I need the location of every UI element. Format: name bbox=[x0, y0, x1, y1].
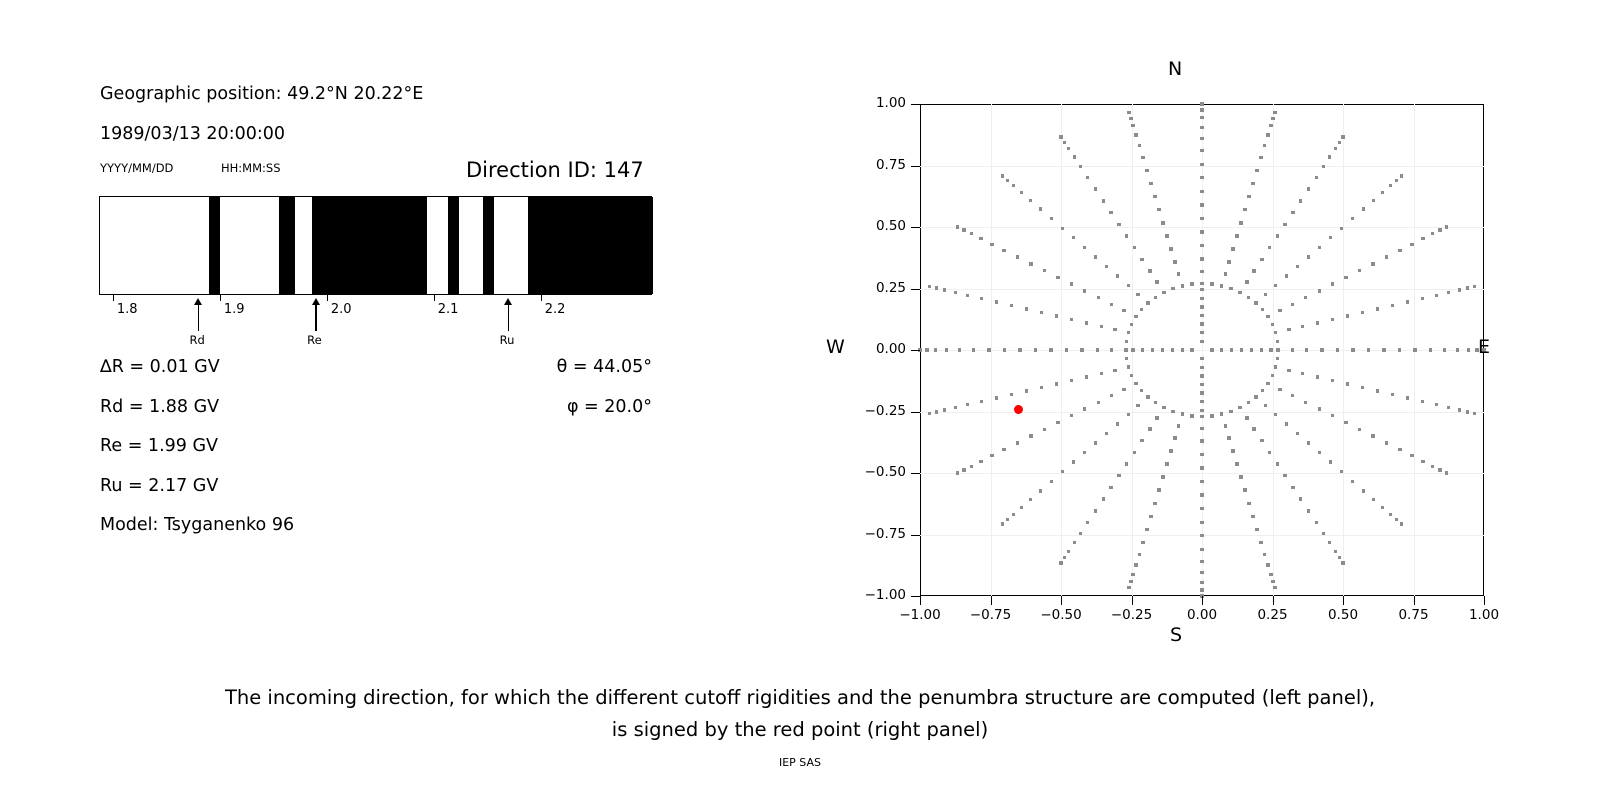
direction-dot bbox=[1224, 272, 1227, 275]
direction-dot bbox=[1238, 406, 1241, 409]
direction-dot bbox=[1073, 541, 1076, 544]
direction-dot bbox=[1059, 561, 1062, 564]
direction-dot bbox=[1190, 414, 1193, 417]
direction-dot bbox=[1140, 308, 1143, 311]
penumbra-marker-label: Ru bbox=[500, 333, 515, 347]
direction-dot bbox=[1083, 451, 1086, 454]
direction-dot bbox=[1070, 414, 1073, 417]
direction-dot bbox=[934, 348, 937, 351]
direction-dot bbox=[1235, 234, 1238, 237]
direction-dot bbox=[1210, 348, 1213, 351]
direction-dot bbox=[1029, 262, 1032, 265]
direction-dot bbox=[1200, 322, 1203, 325]
direction-dot bbox=[1291, 303, 1294, 306]
direction-dot bbox=[1266, 315, 1269, 318]
y-axis-tick-label: −0.50 bbox=[830, 464, 906, 480]
direction-dot bbox=[1200, 560, 1203, 563]
direction-dot bbox=[1421, 237, 1424, 240]
direction-dot bbox=[1079, 165, 1082, 168]
x-axis-tick bbox=[1132, 596, 1133, 605]
direction-dot bbox=[1116, 274, 1119, 277]
gridline-horizontal bbox=[920, 227, 1484, 228]
direction-dot bbox=[1200, 507, 1203, 510]
direction-dot bbox=[1220, 412, 1223, 415]
direction-dot bbox=[1276, 462, 1279, 465]
direction-dot bbox=[1431, 465, 1434, 468]
direction-dot bbox=[1134, 315, 1137, 318]
penumbra-forbidden-band bbox=[209, 197, 220, 294]
direction-dot bbox=[1331, 282, 1334, 285]
direction-dot bbox=[1385, 255, 1388, 258]
direction-dot bbox=[1133, 246, 1136, 249]
penumbra-tick-label: 2.2 bbox=[545, 302, 566, 317]
direction-dot bbox=[1318, 451, 1321, 454]
direction-dot bbox=[945, 348, 948, 351]
direction-dot bbox=[1200, 581, 1203, 584]
direction-dot bbox=[1200, 374, 1203, 377]
direction-dot bbox=[1122, 309, 1125, 312]
compass-label-east: E bbox=[1478, 336, 1490, 358]
direction-dot bbox=[1200, 163, 1203, 166]
direction-dot bbox=[1171, 287, 1174, 290]
direction-dot bbox=[1358, 269, 1361, 272]
direction-dot bbox=[1200, 108, 1203, 111]
direction-dot bbox=[1056, 421, 1059, 424]
direction-dot bbox=[1304, 401, 1307, 404]
direction-dot bbox=[1130, 374, 1133, 377]
direction-dot bbox=[1127, 284, 1130, 287]
penumbra-tick bbox=[327, 295, 328, 301]
direction-dot bbox=[1006, 179, 1009, 182]
direction-dot bbox=[1200, 244, 1203, 247]
direction-dot bbox=[995, 396, 998, 399]
direction-dot bbox=[1177, 272, 1180, 275]
direction-dot bbox=[1043, 269, 1046, 272]
y-axis-tick-label: −0.25 bbox=[830, 403, 906, 419]
direction-id-label: Direction ID: 147 bbox=[466, 158, 644, 182]
direction-dot bbox=[1200, 137, 1203, 140]
direction-dot bbox=[1331, 318, 1334, 321]
direction-dot bbox=[1276, 348, 1279, 351]
direction-dot bbox=[1268, 451, 1271, 454]
direction-dot bbox=[1148, 427, 1151, 430]
direction-dot bbox=[1200, 453, 1203, 456]
direction-dot bbox=[1200, 116, 1203, 119]
direction-dot bbox=[1200, 126, 1203, 129]
direction-dot bbox=[1018, 348, 1021, 351]
direction-dot bbox=[1358, 428, 1361, 431]
direction-dot bbox=[1145, 528, 1148, 531]
y-axis-tick-label: 1.00 bbox=[830, 95, 906, 111]
direction-dot bbox=[1268, 246, 1271, 249]
direction-dot bbox=[1247, 195, 1250, 198]
direction-dot bbox=[1200, 548, 1203, 551]
direction-dot bbox=[1220, 284, 1223, 287]
direction-dot bbox=[1173, 436, 1176, 439]
direction-dot bbox=[1154, 401, 1157, 404]
direction-dot bbox=[1341, 561, 1344, 564]
direction-dot bbox=[1002, 249, 1005, 252]
direction-dot bbox=[1443, 348, 1446, 351]
x-axis-tick-label: 0.25 bbox=[1233, 607, 1313, 623]
direction-dot bbox=[1001, 522, 1004, 525]
direction-dot bbox=[1171, 410, 1174, 413]
direction-dot bbox=[1006, 518, 1009, 521]
direction-dot bbox=[943, 408, 946, 411]
direction-dot bbox=[1247, 296, 1250, 299]
direction-dot bbox=[1320, 348, 1323, 351]
direction-dot bbox=[1264, 293, 1267, 296]
penumbra-forbidden-band bbox=[448, 197, 460, 294]
direction-dot bbox=[1190, 282, 1193, 285]
compass-label-south: S bbox=[1170, 624, 1182, 646]
direction-dot bbox=[1338, 141, 1341, 144]
direction-dot bbox=[1039, 207, 1042, 210]
direction-dot bbox=[1410, 243, 1413, 246]
direction-dot bbox=[1177, 424, 1180, 427]
direction-dot bbox=[1273, 586, 1276, 589]
direction-dot bbox=[1127, 413, 1130, 416]
direction-dot bbox=[1049, 348, 1052, 351]
direction-dot bbox=[970, 232, 973, 235]
direction-dot bbox=[1336, 348, 1339, 351]
direction-dot bbox=[1200, 357, 1203, 360]
direction-dot bbox=[1274, 284, 1277, 287]
x-axis-tick bbox=[1061, 596, 1062, 605]
direction-dot bbox=[1264, 404, 1267, 407]
direction-dot bbox=[1050, 480, 1053, 483]
direction-dot bbox=[1231, 449, 1234, 452]
direction-dot bbox=[1285, 422, 1288, 425]
direction-dot bbox=[1283, 474, 1286, 477]
direction-dot bbox=[1200, 427, 1203, 430]
direction-dot bbox=[1376, 307, 1379, 310]
direction-dot bbox=[1200, 588, 1203, 591]
direction-dot bbox=[1291, 211, 1294, 214]
penumbra-tick bbox=[541, 295, 542, 301]
direction-dot bbox=[1315, 176, 1318, 179]
direction-dot bbox=[1276, 234, 1279, 237]
direction-dot bbox=[1094, 441, 1097, 444]
direction-dot bbox=[962, 228, 965, 231]
direction-dot bbox=[1131, 348, 1134, 351]
direction-dot bbox=[1157, 208, 1160, 211]
arrow-head-icon bbox=[504, 298, 512, 305]
penumbra-tick-label: 1.8 bbox=[117, 302, 138, 317]
x-axis-tick-label: −0.50 bbox=[1021, 607, 1101, 623]
direction-dot bbox=[1154, 296, 1157, 299]
direction-dot bbox=[1269, 348, 1272, 351]
direction-dot bbox=[1334, 550, 1337, 553]
direction-dot bbox=[1251, 182, 1254, 185]
direction-dot bbox=[1271, 323, 1274, 326]
direction-dot bbox=[1431, 232, 1434, 235]
stat-right-line: θ = 44.05° bbox=[0, 357, 652, 377]
direction-dot bbox=[1140, 389, 1143, 392]
direction-dot bbox=[1117, 474, 1120, 477]
direction-dot bbox=[954, 291, 957, 294]
direction-dot bbox=[1346, 382, 1349, 385]
direction-dot bbox=[1376, 389, 1379, 392]
direction-dot bbox=[1263, 553, 1266, 556]
direction-dot bbox=[1200, 366, 1203, 369]
direction-dot bbox=[1266, 382, 1269, 385]
direction-dot bbox=[1341, 135, 1344, 138]
direction-dot bbox=[1299, 199, 1302, 202]
direction-dot bbox=[1239, 221, 1242, 224]
direction-dot bbox=[1247, 502, 1250, 505]
penumbra-axis: 1.81.92.02.12.2RdReRu bbox=[99, 295, 652, 355]
direction-dot bbox=[1020, 506, 1023, 509]
direction-dot bbox=[1239, 475, 1242, 478]
direction-dot bbox=[1171, 348, 1174, 351]
direction-dot bbox=[1231, 247, 1234, 250]
direction-dot bbox=[1331, 414, 1334, 417]
direction-dot bbox=[1070, 282, 1073, 285]
direction-dot bbox=[1127, 111, 1130, 114]
direction-dot bbox=[1266, 563, 1269, 566]
x-axis-tick-label: −0.25 bbox=[1092, 607, 1172, 623]
direction-dot bbox=[1200, 400, 1203, 403]
direction-dot bbox=[928, 412, 931, 415]
direction-dot bbox=[1155, 416, 1158, 419]
direction-dot bbox=[1210, 414, 1213, 417]
direction-dot bbox=[1162, 291, 1165, 294]
direction-dot bbox=[1456, 348, 1459, 351]
direction-dot bbox=[1079, 532, 1082, 535]
direction-dot bbox=[1251, 515, 1254, 518]
direction-dot bbox=[1117, 223, 1120, 226]
direction-dot bbox=[1278, 388, 1281, 391]
direction-dot bbox=[1271, 580, 1274, 583]
direction-dot bbox=[1260, 348, 1263, 351]
y-axis-tick bbox=[911, 535, 920, 536]
direction-dot bbox=[1296, 432, 1299, 435]
direction-dot bbox=[1149, 182, 1152, 185]
selected-direction-point[interactable] bbox=[1014, 405, 1023, 414]
direction-dot bbox=[1361, 386, 1364, 389]
direction-dot bbox=[1131, 573, 1134, 576]
direction-dot bbox=[1129, 580, 1132, 583]
direction-dot bbox=[1287, 369, 1290, 372]
stat-left-line: Model: Tsyganenko 96 bbox=[100, 515, 294, 535]
direction-dot bbox=[1271, 117, 1274, 120]
direction-dot bbox=[1122, 388, 1125, 391]
direction-dot bbox=[1165, 462, 1168, 465]
x-axis-tick bbox=[1414, 596, 1415, 605]
direction-dot bbox=[1318, 289, 1321, 292]
y-axis-tick-label: 0.50 bbox=[830, 218, 906, 234]
direction-dot bbox=[1061, 470, 1064, 473]
direction-dot bbox=[1254, 395, 1257, 398]
direction-dot bbox=[1229, 410, 1232, 413]
direction-dot bbox=[1318, 407, 1321, 410]
direction-dot bbox=[1398, 448, 1401, 451]
direction-dot bbox=[1361, 311, 1364, 314]
direction-dot bbox=[1065, 348, 1068, 351]
direction-dot bbox=[1245, 280, 1248, 283]
y-axis-tick-label: −0.75 bbox=[830, 526, 906, 542]
direction-dot bbox=[1395, 179, 1398, 182]
direction-dot bbox=[1240, 348, 1243, 351]
direction-dot bbox=[1151, 348, 1154, 351]
direction-dot bbox=[1110, 348, 1113, 351]
direction-dot bbox=[979, 460, 982, 463]
direction-dot bbox=[1200, 217, 1203, 220]
x-axis-tick bbox=[1484, 596, 1485, 605]
direction-dot bbox=[1134, 382, 1137, 385]
arrow-shaft bbox=[198, 303, 199, 331]
direction-dot bbox=[1467, 348, 1470, 351]
direction-dot bbox=[1340, 470, 1343, 473]
direction-dot bbox=[1155, 280, 1158, 283]
direction-dot bbox=[1153, 502, 1156, 505]
direction-dot bbox=[1097, 296, 1100, 299]
direction-dot bbox=[1149, 515, 1152, 518]
direction-dot bbox=[1200, 203, 1203, 206]
direction-dot bbox=[1083, 246, 1086, 249]
direction-dot bbox=[1351, 217, 1354, 220]
direction-dot bbox=[1224, 424, 1227, 427]
direction-dot bbox=[1274, 365, 1277, 368]
direction-dot bbox=[1113, 369, 1116, 372]
direction-dot bbox=[1322, 532, 1325, 535]
compass-label-north: N bbox=[1168, 58, 1182, 80]
direction-dot bbox=[1200, 230, 1203, 233]
direction-dot bbox=[1245, 416, 1248, 419]
direction-dot bbox=[1278, 309, 1281, 312]
direction-dot bbox=[1161, 475, 1164, 478]
direction-dot bbox=[1316, 375, 1319, 378]
direction-dot bbox=[1083, 407, 1086, 410]
direction-dot bbox=[1389, 513, 1392, 516]
direction-dot bbox=[1034, 348, 1037, 351]
direction-dot bbox=[1129, 117, 1132, 120]
direction-dot bbox=[1276, 357, 1279, 360]
direction-dot bbox=[1200, 270, 1203, 273]
direction-dot bbox=[1260, 258, 1263, 261]
direction-dot bbox=[1254, 301, 1257, 304]
direction-dot bbox=[943, 288, 946, 291]
direction-dot bbox=[1100, 325, 1103, 328]
direction-dot bbox=[1181, 284, 1184, 287]
direction-dot bbox=[1086, 176, 1089, 179]
direction-dot bbox=[1372, 199, 1375, 202]
y-axis-tick bbox=[911, 350, 920, 351]
direction-dot bbox=[1200, 305, 1203, 308]
direction-dot bbox=[1331, 379, 1334, 382]
penumbra-forbidden-band bbox=[279, 197, 295, 294]
direction-dot bbox=[1200, 102, 1203, 105]
stat-left-line: Ru = 2.17 GV bbox=[100, 476, 218, 496]
direction-dot bbox=[1316, 321, 1319, 324]
date-format-hint: YYYY/MM/DD bbox=[100, 161, 173, 175]
direction-dot bbox=[1200, 409, 1203, 412]
direction-dot bbox=[980, 297, 983, 300]
direction-dot bbox=[1421, 400, 1424, 403]
direction-dot bbox=[1010, 304, 1013, 307]
direction-dot bbox=[1200, 493, 1203, 496]
direction-dot bbox=[1162, 406, 1165, 409]
direction-dot bbox=[935, 410, 938, 413]
direction-dot bbox=[1173, 260, 1176, 263]
direction-dot bbox=[1287, 328, 1290, 331]
direction-dot bbox=[1398, 348, 1401, 351]
y-axis-tick bbox=[911, 473, 920, 474]
direction-dot bbox=[1255, 169, 1258, 172]
direction-dot bbox=[1362, 207, 1365, 210]
direction-dot bbox=[1102, 497, 1105, 500]
direction-dot bbox=[1445, 225, 1448, 228]
direction-dot bbox=[1070, 318, 1073, 321]
direction-dot bbox=[1113, 328, 1116, 331]
direction-dot bbox=[1271, 374, 1274, 377]
direction-dot bbox=[1445, 471, 1448, 474]
direction-dot bbox=[1157, 488, 1160, 491]
direction-dot bbox=[956, 471, 959, 474]
direction-dot bbox=[1243, 488, 1246, 491]
direction-dot bbox=[1307, 441, 1310, 444]
direction-dot bbox=[1141, 156, 1144, 159]
direction-dot bbox=[1200, 466, 1203, 469]
direction-dot bbox=[1127, 331, 1130, 334]
direction-dot bbox=[1200, 439, 1203, 442]
datetime-label: 1989/03/13 20:00:00 bbox=[100, 124, 285, 144]
direction-dot bbox=[1138, 144, 1141, 147]
direction-dot bbox=[1447, 291, 1450, 294]
direction-dot bbox=[1398, 249, 1401, 252]
direction-dot bbox=[970, 465, 973, 468]
direction-dot bbox=[1421, 460, 1424, 463]
direction-dot bbox=[1130, 323, 1133, 326]
direction-dot bbox=[1266, 133, 1269, 136]
direction-dot bbox=[1230, 348, 1233, 351]
direction-dot bbox=[1200, 176, 1203, 179]
direction-dot bbox=[1296, 265, 1299, 268]
penumbra-tick-label: 1.9 bbox=[224, 302, 245, 317]
direction-dot bbox=[1382, 348, 1385, 351]
direction-dot bbox=[1307, 509, 1310, 512]
direction-dot bbox=[1406, 300, 1409, 303]
direction-dot bbox=[1055, 382, 1058, 385]
direction-dot bbox=[1346, 314, 1349, 317]
direction-dot bbox=[1400, 522, 1403, 525]
direction-dot bbox=[925, 348, 928, 351]
x-axis-tick bbox=[920, 596, 921, 605]
direction-dot bbox=[1029, 434, 1032, 437]
direction-dot bbox=[1125, 234, 1128, 237]
direction-dot bbox=[954, 406, 957, 409]
direction-dot bbox=[1372, 498, 1375, 501]
direction-dot bbox=[1067, 147, 1070, 150]
direction-dot bbox=[1056, 276, 1059, 279]
direction-dot bbox=[1410, 454, 1413, 457]
direction-dot bbox=[1025, 389, 1028, 392]
direction-dot bbox=[1438, 468, 1441, 471]
geographic-position-label: Geographic position: 49.2°N 20.22°E bbox=[100, 84, 423, 104]
direction-dot bbox=[1200, 480, 1203, 483]
direction-dot bbox=[1307, 187, 1310, 190]
direction-dot bbox=[1094, 187, 1097, 190]
direction-dot bbox=[966, 294, 969, 297]
direction-dot bbox=[1073, 155, 1076, 158]
direction-dot bbox=[1259, 156, 1262, 159]
direction-scatter-plot: −1.00−0.75−0.50−0.250.000.250.500.751.00… bbox=[920, 104, 1484, 596]
direction-dot bbox=[1116, 422, 1119, 425]
y-axis-tick bbox=[911, 412, 920, 413]
direction-dot bbox=[956, 225, 959, 228]
direction-dot bbox=[1059, 135, 1062, 138]
